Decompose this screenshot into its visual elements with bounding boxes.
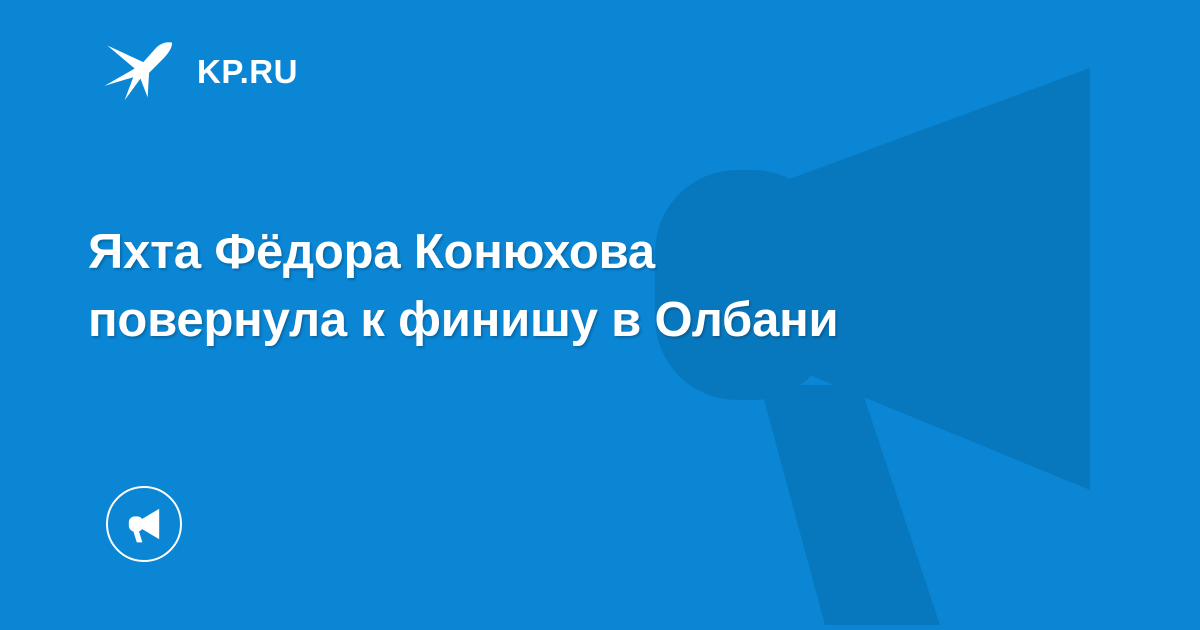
share-card: KP.RU Яхта Фёдора Конюхова повернула к ф… <box>0 0 1200 630</box>
page-title-line-1: Яхта Фёдора Конюхова <box>88 218 1028 286</box>
megaphone-icon <box>124 504 164 544</box>
swallow-bird-icon <box>103 34 175 106</box>
page-title-line-2: повернула к финишу в Олбани <box>88 286 1028 354</box>
brand-logo[interactable]: KP.RU <box>103 34 298 106</box>
megaphone-badge[interactable] <box>106 486 182 562</box>
brand-name-label: KP.RU <box>197 55 298 88</box>
page-title: Яхта Фёдора Конюхова повернула к финишу … <box>88 218 1028 354</box>
